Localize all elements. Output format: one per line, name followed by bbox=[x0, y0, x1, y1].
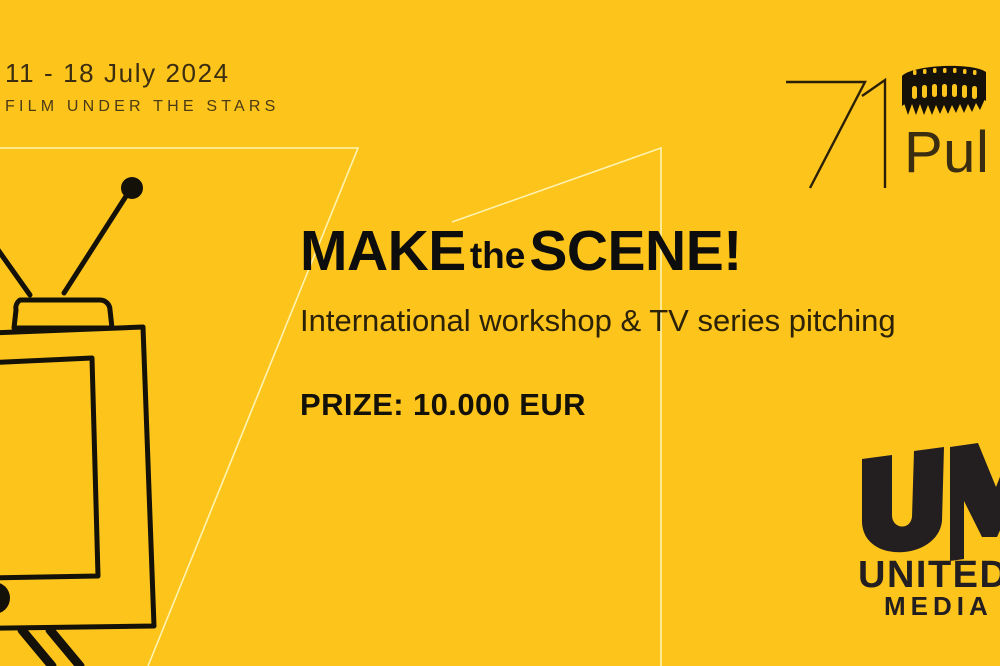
festival-dates: 11 - 18 July 2024 bbox=[5, 60, 280, 86]
tv-knobs bbox=[0, 581, 10, 614]
festival-logo[interactable]: Pul bbox=[776, 46, 1000, 181]
headline-the: the bbox=[466, 235, 530, 276]
prize-amount: PRIZE: 10.000 EUR bbox=[300, 387, 586, 423]
united-media-logo[interactable]: UNITED MEDIA bbox=[854, 441, 1000, 616]
page-title: MAKEtheSCENE! bbox=[300, 218, 742, 284]
festival-city-name: Pul bbox=[904, 124, 989, 182]
united-media-name-line2: MEDIA bbox=[884, 591, 993, 616]
festival-tagline: FILM UNDER THE STARS bbox=[5, 99, 280, 115]
united-media-name-line1: UNITED bbox=[858, 554, 1000, 596]
poster-canvas: 11 - 18 July 2024 FILM UNDER THE STARS bbox=[0, 0, 1000, 666]
amphitheater-icon bbox=[898, 60, 990, 118]
festival-date-block: 11 - 18 July 2024 FILM UNDER THE STARS bbox=[5, 60, 280, 115]
subtitle: International workshop & TV series pitch… bbox=[300, 303, 896, 339]
antenna-tip-right bbox=[121, 177, 143, 199]
retro-tv-illustration bbox=[0, 160, 222, 666]
headline-make: MAKE bbox=[300, 219, 466, 283]
headline-scene: SCENE! bbox=[529, 219, 741, 283]
united-media-monogram bbox=[862, 441, 1000, 561]
